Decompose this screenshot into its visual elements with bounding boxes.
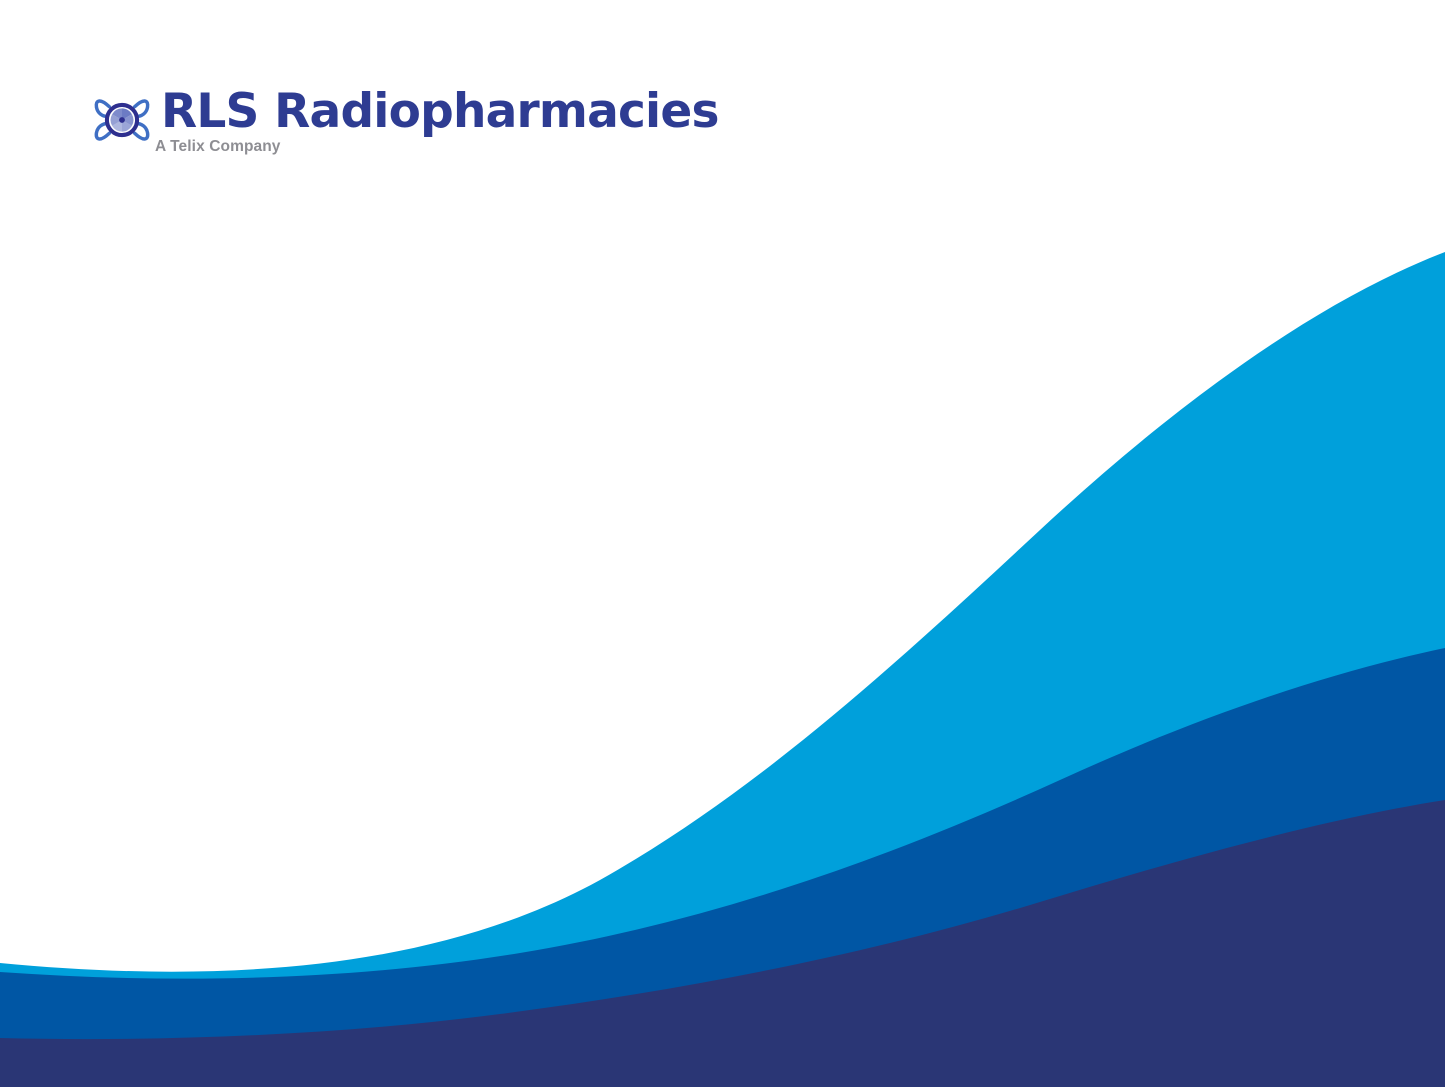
atom-aperture-icon (93, 91, 151, 149)
logo-wordmark: RLS Radiopharmacies (161, 88, 719, 136)
logo-tagline: A Telix Company (155, 138, 281, 156)
slide-canvas: RLS Radiopharmacies A Telix Company (0, 0, 1445, 1087)
logo-nucleus (119, 117, 125, 123)
slide-content-area (93, 200, 993, 900)
logo-text-block: RLS Radiopharmacies (161, 88, 719, 136)
